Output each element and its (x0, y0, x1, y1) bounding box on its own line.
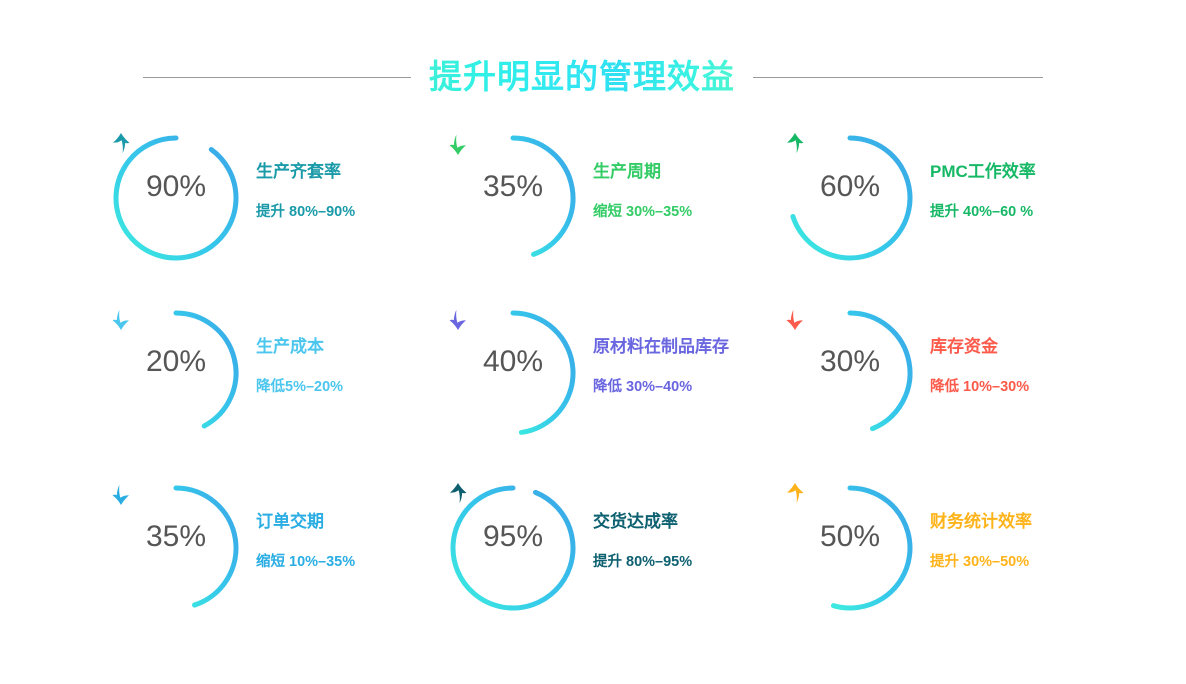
metric-labels: 生产齐套率提升 80%–90% (256, 162, 426, 222)
metric-card[interactable]: 50%财务统计效率提升 30%–50% (766, 476, 1103, 651)
donut-arc-svg (447, 307, 579, 439)
metric-subtitle: 提升 80%–95% (593, 554, 692, 571)
metric-title: PMC工作效率 (930, 162, 1036, 182)
donut-chart: 20% (110, 307, 242, 439)
metric-title: 生产周期 (593, 162, 661, 182)
donut-chart: 60% (784, 132, 916, 264)
title-rule-left (143, 77, 411, 78)
metric-labels: 订单交期缩短 10%–35% (256, 512, 426, 572)
metric-card[interactable]: 90%生产齐套率提升 80%–90% (92, 126, 429, 301)
title-rule-right (753, 77, 1043, 78)
metric-title: 财务统计效率 (930, 512, 1032, 532)
donut-chart: 90% (110, 132, 242, 264)
donut-arc-svg (784, 307, 916, 439)
donut-arc-svg (110, 132, 242, 264)
metric-labels: 交货达成率提升 80%–95% (593, 512, 763, 572)
metric-title: 库存资金 (930, 337, 998, 357)
metric-card[interactable]: 95%交货达成率提升 80%–95% (429, 476, 766, 651)
metric-subtitle: 缩短 30%–35% (593, 204, 692, 221)
metric-labels: 原材料在制品库存降低 30%–40% (593, 337, 766, 397)
donut-arc-svg (110, 482, 242, 614)
metric-labels: 生产周期缩短 30%–35% (593, 162, 763, 222)
metric-title: 生产齐套率 (256, 162, 341, 182)
metric-subtitle: 提升 30%–50% (930, 554, 1029, 571)
metric-card[interactable]: 35%生产周期缩短 30%–35% (429, 126, 766, 301)
donut-arc-svg (447, 482, 579, 614)
metric-title: 订单交期 (256, 512, 324, 532)
metric-subtitle: 降低 10%–30% (930, 379, 1029, 396)
page-title: 提升明显的管理效益 (429, 59, 735, 95)
metric-subtitle: 提升 80%–90% (256, 204, 355, 221)
metric-labels: 生产成本降低5%–20% (256, 337, 426, 397)
metric-card[interactable]: 20%生产成本降低5%–20% (92, 301, 429, 476)
donut-arc-svg (784, 482, 916, 614)
metrics-grid: 90%生产齐套率提升 80%–90%35%生产周期缩短 30%–35%60%PM… (92, 126, 1102, 651)
donut-chart: 30% (784, 307, 916, 439)
metric-subtitle: 缩短 10%–35% (256, 554, 355, 571)
metric-labels: 库存资金降低 10%–30% (930, 337, 1100, 397)
page-header: 提升明显的管理效益 (0, 52, 1186, 102)
metric-labels: 财务统计效率提升 30%–50% (930, 512, 1100, 572)
donut-arc-svg (784, 132, 916, 264)
metric-card[interactable]: 60%PMC工作效率提升 40%–60 % (766, 126, 1103, 301)
donut-chart: 35% (447, 132, 579, 264)
metric-subtitle: 降低5%–20% (256, 379, 343, 396)
donut-chart: 50% (784, 482, 916, 614)
donut-arc-svg (110, 307, 242, 439)
donut-chart: 95% (447, 482, 579, 614)
donut-arc-svg (447, 132, 579, 264)
metric-card[interactable]: 35%订单交期缩短 10%–35% (92, 476, 429, 651)
metric-card[interactable]: 40%原材料在制品库存降低 30%–40% (429, 301, 766, 476)
donut-chart: 40% (447, 307, 579, 439)
metric-title: 原材料在制品库存 (593, 337, 729, 357)
metric-labels: PMC工作效率提升 40%–60 % (930, 162, 1103, 222)
donut-chart: 35% (110, 482, 242, 614)
metric-card[interactable]: 30%库存资金降低 10%–30% (766, 301, 1103, 476)
metric-subtitle: 提升 40%–60 % (930, 204, 1033, 221)
metric-title: 生产成本 (256, 337, 324, 357)
metric-subtitle: 降低 30%–40% (593, 379, 692, 396)
metric-title: 交货达成率 (593, 512, 678, 532)
